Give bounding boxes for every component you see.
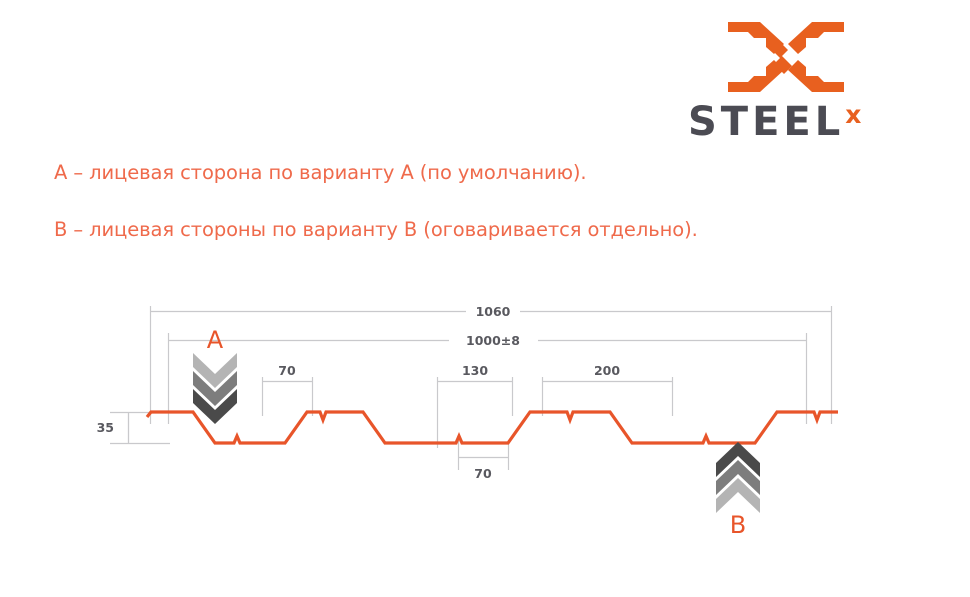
- marker-a-label: A: [207, 326, 224, 354]
- dimension-height-label: 35: [97, 420, 114, 435]
- marker-a-chevrons-icon: [193, 353, 237, 424]
- dimension-pitch-label: 200: [594, 363, 620, 378]
- marker-b-label: B: [730, 511, 746, 539]
- dimension-overall-width-label: 1060: [476, 304, 511, 319]
- dimension-useful-width: 1000±8: [168, 333, 807, 348]
- dimension-pitch: 200: [542, 363, 673, 382]
- marker-variant-b: B: [716, 442, 760, 539]
- marker-b-chevrons-icon: [716, 442, 760, 513]
- profile-technical-drawing: 1060 1000±8 70 130 200 70 35 A: [0, 0, 970, 597]
- dimension-bottom-flange: 70: [458, 458, 509, 482]
- dimension-valley-to-crest-label: 130: [462, 363, 488, 378]
- dimension-valley-to-crest: 130: [437, 363, 513, 382]
- dimension-height: 35: [97, 412, 129, 444]
- corrugated-profile-path: [147, 412, 838, 443]
- dimension-bottom-flange-label: 70: [474, 466, 492, 481]
- dimension-top-flange: 70: [262, 363, 313, 382]
- dimension-overall-width: 1060: [150, 304, 832, 319]
- dimension-useful-width-label: 1000±8: [466, 333, 520, 348]
- dimension-top-flange-label: 70: [278, 363, 296, 378]
